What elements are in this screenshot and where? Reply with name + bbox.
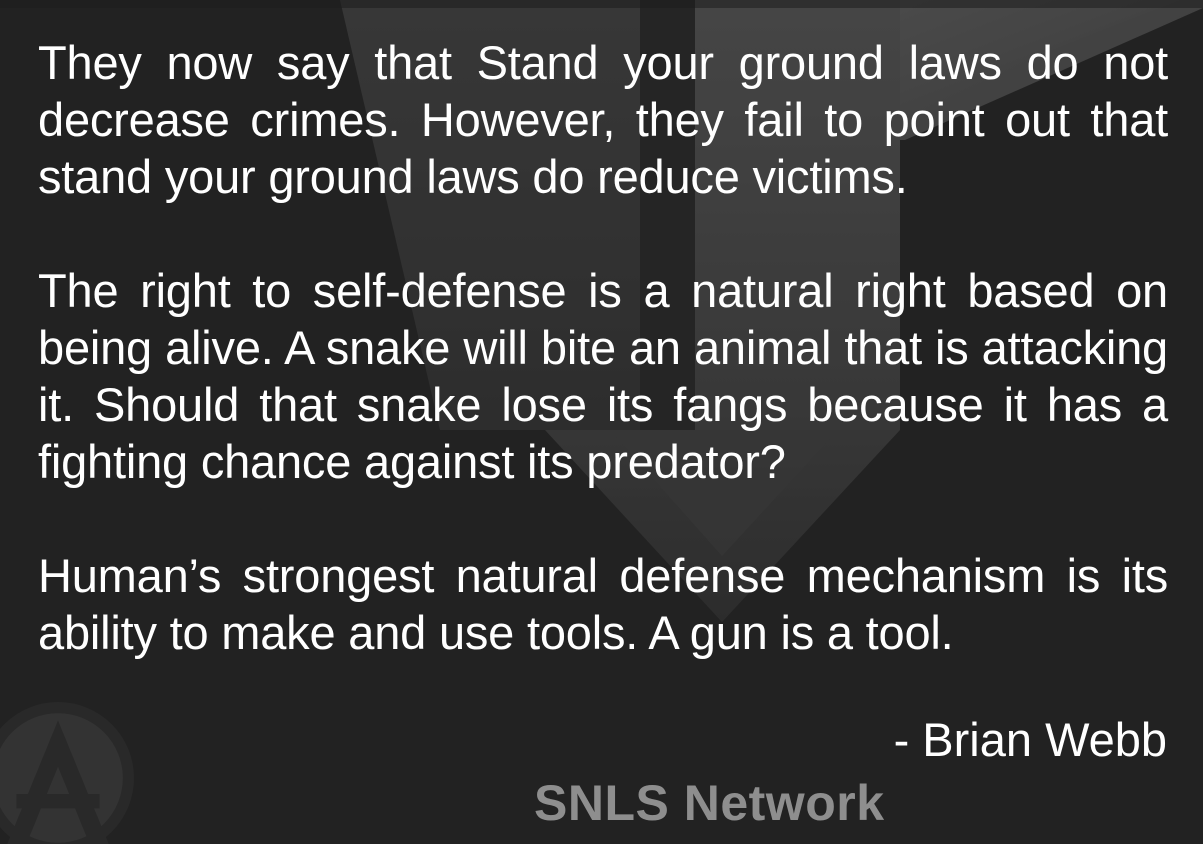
quote-paragraph-2: The right to self-defense is a natural r… — [38, 262, 1168, 490]
bg-top-edge — [0, 0, 1203, 8]
quote-paragraph-1: They now say that Stand your ground laws… — [38, 34, 1168, 205]
network-watermark: SNLS Network — [534, 774, 885, 832]
quote-text-block: They now say that Stand your ground laws… — [38, 34, 1168, 661]
paragraph-spacer — [38, 205, 1168, 262]
quote-attribution: - Brian Webb — [894, 712, 1167, 768]
paragraph-spacer — [38, 490, 1168, 547]
circle-a-anarchy-logo — [0, 698, 138, 844]
quote-graphic-canvas: They now say that Stand your ground laws… — [0, 0, 1203, 844]
quote-paragraph-3: Human’s strongest natural defense mechan… — [38, 547, 1168, 661]
